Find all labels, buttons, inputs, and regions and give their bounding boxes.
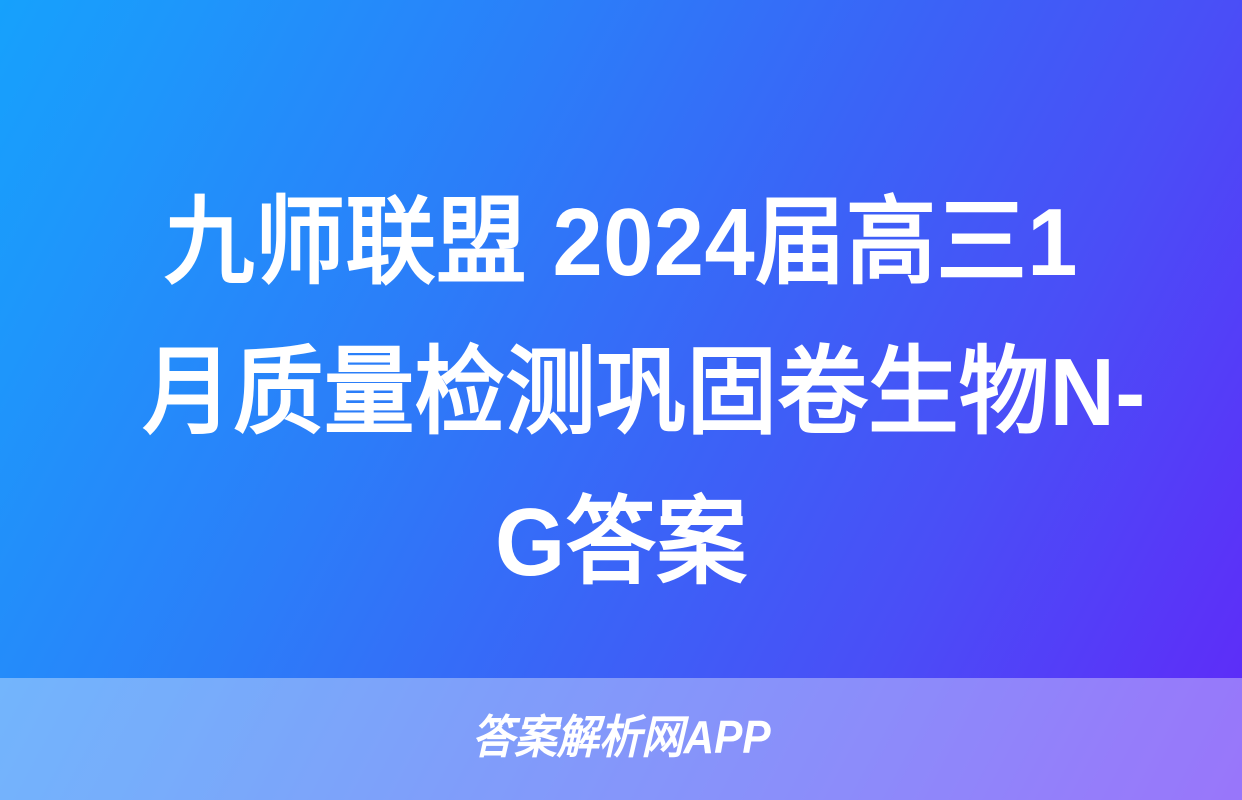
app-watermark-label: 答案解析网APP — [472, 714, 771, 760]
page-title: 九师联盟 2024届高三1 月质量检测巩固卷生物N- G答案 — [0, 168, 1242, 618]
title-line-2: 月质量检测巩固卷生物N- — [143, 318, 1100, 468]
title-line-3: G答案 — [143, 468, 1100, 618]
footer-watermark-band: 答案解析网APP — [0, 678, 1242, 800]
answer-cover-card: 九师联盟 2024届高三1 月质量检测巩固卷生物N- G答案 答案解析网APP — [0, 0, 1242, 800]
title-line-1: 九师联盟 2024届高三1 — [143, 168, 1100, 318]
